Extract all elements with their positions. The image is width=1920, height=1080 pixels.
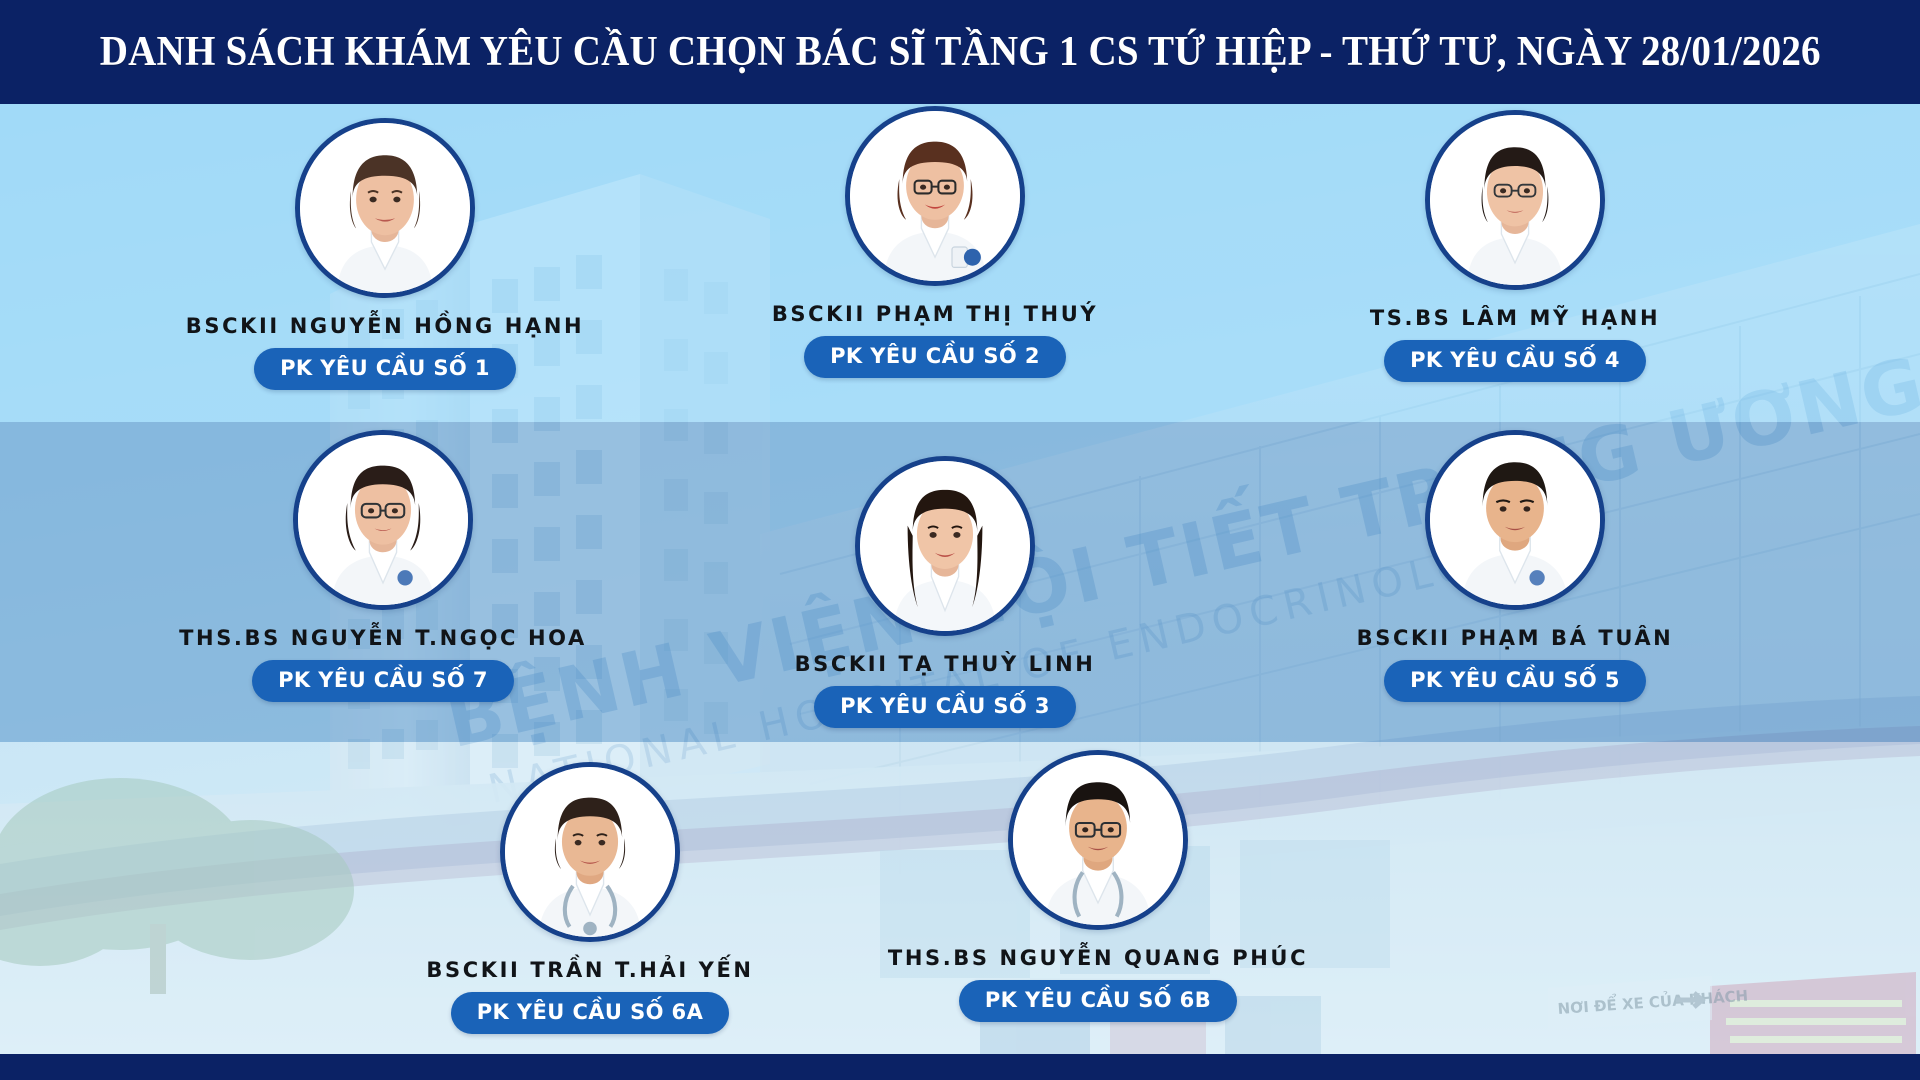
doctor-name: BSCKII PHẠM THỊ THUÝ — [772, 302, 1098, 326]
avatar-illustration — [300, 123, 470, 293]
doctor-photo-ta-thuy-linh — [855, 456, 1035, 636]
doctor-row-3: BSCKII TRẦN T.HẢI YẾN PK YÊU CẦU SỐ 6A — [0, 756, 1920, 1054]
doctor-photo-lam-my-hanh — [1425, 110, 1605, 290]
doctor-card[interactable]: BSCKII NGUYỄN HỒNG HẠNH PK YÊU CẦU SỐ 1 — [135, 118, 635, 436]
doctor-card[interactable]: THS.BS NGUYỄN QUANG PHÚC PK YÊU CẦU SỐ 6… — [848, 750, 1348, 1048]
doctor-card[interactable]: BSCKII TRẦN T.HẢI YẾN PK YÊU CẦU SỐ 6A — [340, 762, 840, 1060]
doctor-name: TS.BS LÂM MỸ HẠNH — [1370, 306, 1660, 330]
doctor-photo-nguyen-quang-phuc — [1008, 750, 1188, 930]
doctor-card[interactable]: BSCKII TẠ THUỲ LINH PK YÊU CẦU SỐ 3 — [695, 456, 1195, 776]
avatar-illustration — [860, 461, 1030, 631]
room-badge[interactable]: PK YÊU CẦU SỐ 5 — [1384, 660, 1646, 702]
footer-bar — [0, 1054, 1920, 1080]
avatar-illustration — [1013, 755, 1183, 925]
doctor-photo-pham-ba-tuan — [1425, 430, 1605, 610]
doctor-name: THS.BS NGUYỄN T.NGỌC HOA — [179, 626, 587, 650]
room-badge[interactable]: PK YÊU CẦU SỐ 6B — [959, 980, 1237, 1022]
avatar-illustration — [298, 435, 468, 605]
doctor-name: BSCKII PHẠM BÁ TUÂN — [1357, 626, 1674, 650]
doctor-name: BSCKII TẠ THUỲ LINH — [795, 652, 1096, 676]
doctor-photo-pham-thi-thuy — [845, 106, 1025, 286]
doctor-card[interactable]: BSCKII PHẠM THỊ THUÝ PK YÊU CẦU SỐ 2 — [685, 106, 1185, 424]
page-header: DANH SÁCH KHÁM YÊU CẦU CHỌN BÁC SĨ TẦNG … — [0, 0, 1920, 104]
room-badge[interactable]: PK YÊU CẦU SỐ 4 — [1384, 340, 1646, 382]
room-badge[interactable]: PK YÊU CẦU SỐ 6A — [451, 992, 729, 1034]
poster-root: BỆNH VIỆN NỘI TIẾT TRUNG ƯƠNG NATIONAL H… — [0, 0, 1920, 1080]
doctor-row-1: BSCKII NGUYỄN HỒNG HẠNH PK YÊU CẦU SỐ 1 — [0, 118, 1920, 436]
doctor-name: BSCKII TRẦN T.HẢI YẾN — [426, 958, 753, 982]
avatar-illustration — [1430, 435, 1600, 605]
avatar-illustration — [1430, 115, 1600, 285]
avatar-illustration — [850, 111, 1020, 281]
doctor-name: BSCKII NGUYỄN HỒNG HẠNH — [186, 314, 584, 338]
avatar-illustration — [505, 767, 675, 937]
room-badge[interactable]: PK YÊU CẦU SỐ 7 — [252, 660, 514, 702]
doctor-card[interactable]: TS.BS LÂM MỸ HẠNH PK YÊU CẦU SỐ 4 — [1265, 110, 1765, 428]
doctor-photo-nguyen-t-ngoc-hoa — [293, 430, 473, 610]
room-badge[interactable]: PK YÊU CẦU SỐ 1 — [254, 348, 516, 390]
page-title: DANH SÁCH KHÁM YÊU CẦU CHỌN BÁC SĨ TẦNG … — [99, 28, 1820, 76]
doctor-card[interactable]: BSCKII PHẠM BÁ TUÂN PK YÊU CẦU SỐ 5 — [1265, 430, 1765, 750]
doctor-row-2: THS.BS NGUYỄN T.NGỌC HOA PK YÊU CẦU SỐ 7 — [0, 436, 1920, 756]
doctor-card[interactable]: THS.BS NGUYỄN T.NGỌC HOA PK YÊU CẦU SỐ 7 — [133, 430, 633, 750]
doctor-photo-nguyen-hong-hanh — [295, 118, 475, 298]
room-badge[interactable]: PK YÊU CẦU SỐ 2 — [804, 336, 1066, 378]
room-badge[interactable]: PK YÊU CẦU SỐ 3 — [814, 686, 1076, 728]
doctor-photo-tran-t-hai-yen — [500, 762, 680, 942]
doctor-grid: BSCKII NGUYỄN HỒNG HẠNH PK YÊU CẦU SỐ 1 — [0, 104, 1920, 1054]
doctor-name: THS.BS NGUYỄN QUANG PHÚC — [888, 946, 1308, 970]
